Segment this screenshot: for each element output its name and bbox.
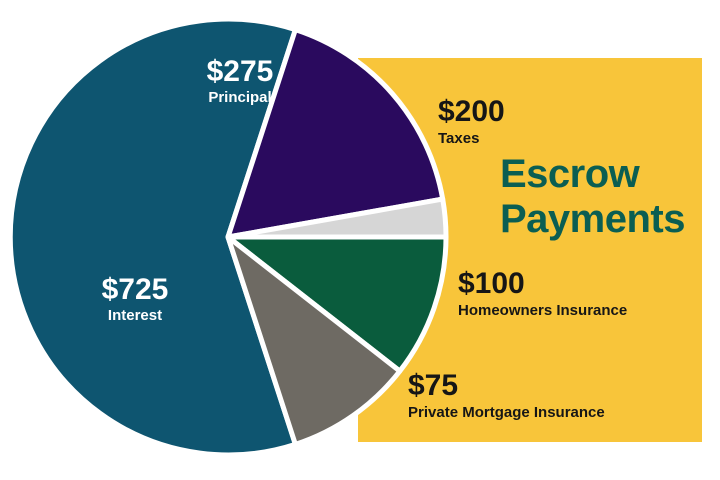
slice-name-principal: Principal [150, 90, 330, 106]
slice-amount-interest: $725 [40, 274, 230, 306]
slice-label-principal: $275 Principal [150, 56, 330, 106]
slice-amount-taxes: $200 [438, 96, 678, 128]
escrow-title: Escrow Payments [500, 152, 700, 242]
escrow-title-line-1: Escrow [500, 152, 700, 197]
slice-name-taxes: Taxes [438, 131, 678, 147]
slice-amount-principal: $275 [150, 56, 330, 88]
slice-amount-homeowners-insurance: $100 [458, 268, 708, 300]
slice-label-interest: $725 Interest [40, 274, 230, 324]
escrow-title-line-2: Payments [500, 197, 700, 242]
infographic-root: $275 Principal $725 Interest $200 Taxes … [0, 0, 720, 480]
slice-label-private-mortgage-insurance: $75 Private Mortgage Insurance [408, 370, 708, 421]
slice-label-homeowners-insurance: $100 Homeowners Insurance [458, 268, 708, 319]
slice-amount-private-mortgage-insurance: $75 [408, 370, 708, 402]
slice-label-taxes: $200 Taxes [438, 96, 678, 147]
slice-name-private-mortgage-insurance: Private Mortgage Insurance [408, 405, 708, 421]
slice-name-interest: Interest [40, 308, 230, 324]
slice-name-homeowners-insurance: Homeowners Insurance [458, 303, 708, 319]
